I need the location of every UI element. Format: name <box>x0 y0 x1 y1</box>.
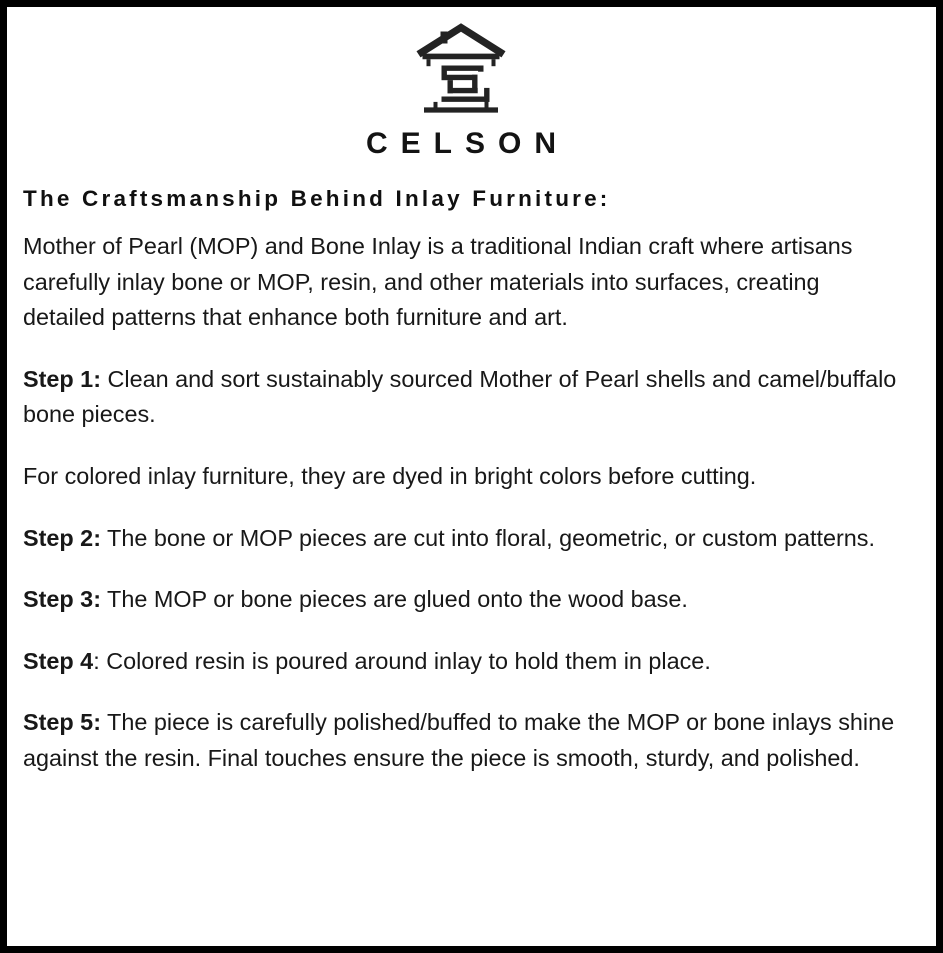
step-2-paragraph: Step 2: The bone or MOP pieces are cut i… <box>23 521 906 557</box>
colored-inlay-note: For colored inlay furniture, they are dy… <box>23 459 906 495</box>
step-3-text: The MOP or bone pieces are glued onto th… <box>101 586 688 612</box>
article-body: Mother of Pearl (MOP) and Bone Inlay is … <box>23 212 906 777</box>
step-3-label: Step 3: <box>23 586 101 612</box>
intro-paragraph: Mother of Pearl (MOP) and Bone Inlay is … <box>23 229 906 336</box>
step-5-paragraph: Step 5: The piece is carefully polished/… <box>23 705 906 776</box>
step-5-label: Step 5: <box>23 709 101 735</box>
step-5-text: The piece is carefully polished/buffed t… <box>23 709 894 771</box>
step-1-label: Step 1: <box>23 366 101 392</box>
inlay-furniture-info-card: CELSON The Craftsmanship Behind Inlay Fu… <box>0 0 943 953</box>
step-4-paragraph: Step 4: Colored resin is poured around i… <box>23 644 906 680</box>
step-2-text: The bone or MOP pieces are cut into flor… <box>101 525 875 551</box>
brand-name: CELSON <box>16 129 906 159</box>
house-monogram-logo-icon <box>413 17 509 121</box>
step-1-text: Clean and sort sustainably sourced Mothe… <box>23 366 896 428</box>
page-title: The Craftsmanship Behind Inlay Furniture… <box>23 185 906 212</box>
step-3-paragraph: Step 3: The MOP or bone pieces are glued… <box>23 582 906 618</box>
step-2-label: Step 2: <box>23 525 101 551</box>
step-4-label: Step 4 <box>23 648 93 674</box>
step-1-paragraph: Step 1: Clean and sort sustainably sourc… <box>23 362 906 433</box>
card-inner: CELSON The Craftsmanship Behind Inlay Fu… <box>7 7 936 946</box>
step-4-text: : Colored resin is poured around inlay t… <box>93 648 711 674</box>
brand-block: CELSON <box>16 11 906 159</box>
